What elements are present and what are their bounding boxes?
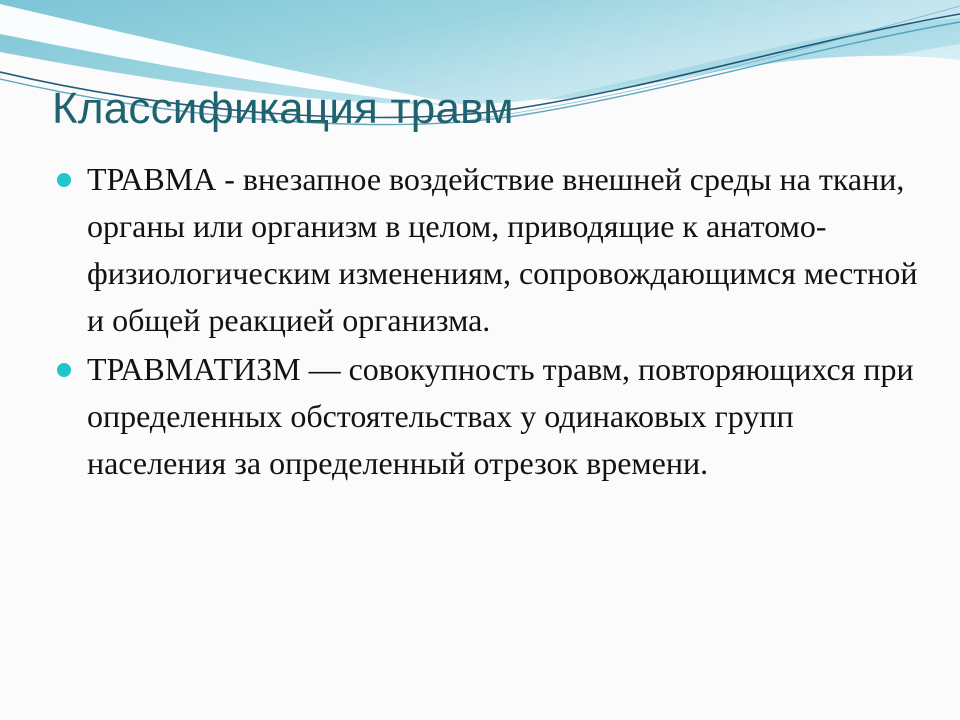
- slide-title: Классификация травм: [52, 84, 922, 134]
- bullet-dot-icon: [57, 363, 71, 377]
- bullet-text: ТРАВМА - внезапное воздействие внешней с…: [87, 156, 922, 344]
- bullet-text: ТРАВМАТИЗМ — совокупность травм, повторя…: [87, 346, 922, 487]
- bullet-item-traumatism: ТРАВМАТИЗМ — совокупность травм, повторя…: [46, 346, 922, 487]
- slide-body: ТРАВМА - внезапное воздействие внешней с…: [46, 156, 922, 489]
- bullet-dot-icon: [57, 173, 71, 187]
- wave-banner-decoration: [0, 0, 960, 160]
- presentation-slide: Классификация травм ТРАВМА - внезапное в…: [0, 0, 960, 720]
- bullet-item-trauma: ТРАВМА - внезапное воздействие внешней с…: [46, 156, 922, 344]
- wave-banner-svg: [0, 0, 960, 160]
